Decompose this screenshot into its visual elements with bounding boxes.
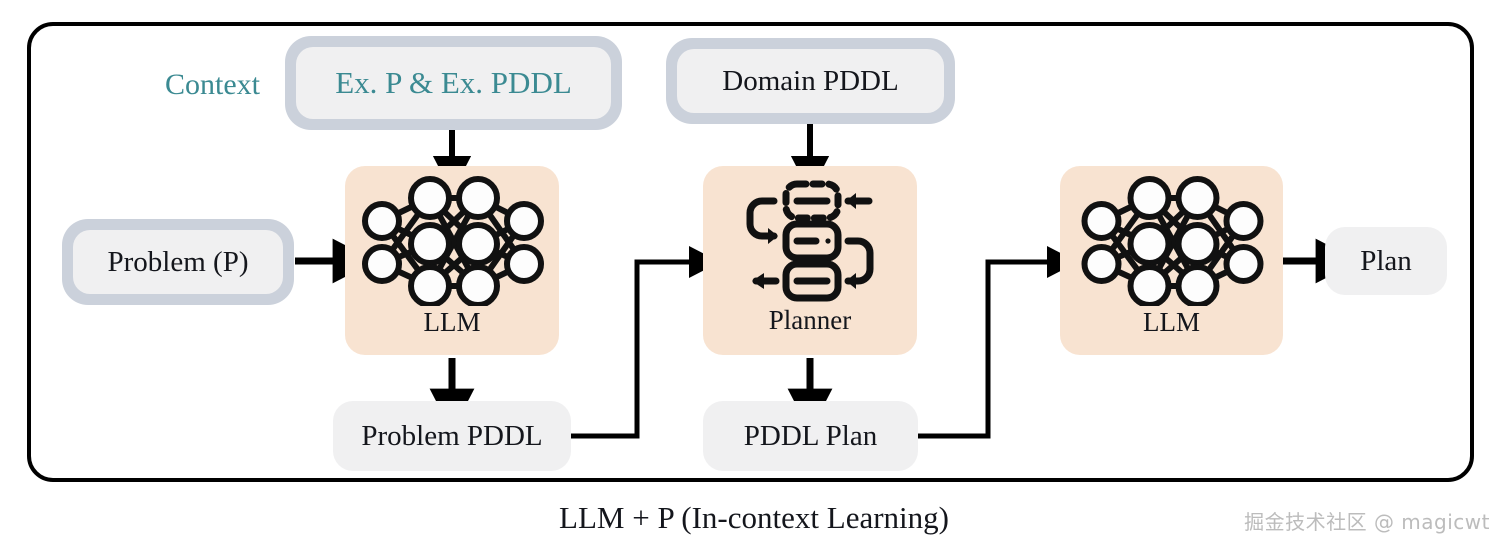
context-label: Context: [165, 68, 260, 102]
node-llm-right-caption: LLM: [1143, 308, 1200, 336]
watermark: 掘金技术社区 @ magicwt: [1244, 506, 1490, 535]
node-llm-right[interactable]: LLM: [1060, 166, 1283, 355]
neural-network-icon: [1060, 176, 1283, 306]
node-problem-pddl-label: Problem PDDL: [361, 421, 542, 451]
node-problem-pddl[interactable]: Problem PDDL: [333, 401, 571, 471]
node-problem[interactable]: Problem (P): [62, 219, 294, 305]
planner-loop-icon: [703, 178, 917, 304]
node-domain-pddl-label: Domain PDDL: [722, 66, 898, 96]
figure-canvas: Context Ex. P & Ex. PDDL Domain PDDL Pro…: [0, 0, 1508, 552]
node-plan-label: Plan: [1360, 246, 1412, 276]
node-example-prompt[interactable]: Ex. P & Ex. PDDL: [285, 36, 622, 130]
node-domain-pddl[interactable]: Domain PDDL: [666, 38, 955, 124]
node-llm-left[interactable]: LLM: [345, 166, 559, 355]
node-pddl-plan-label: PDDL Plan: [744, 421, 877, 451]
node-example-prompt-label: Ex. P & Ex. PDDL: [335, 67, 572, 100]
node-pddl-plan[interactable]: PDDL Plan: [703, 401, 918, 471]
neural-network-icon: [345, 176, 559, 306]
node-plan[interactable]: Plan: [1325, 227, 1447, 295]
node-llm-left-caption: LLM: [424, 308, 481, 336]
node-planner[interactable]: Planner: [703, 166, 917, 355]
node-planner-caption: Planner: [769, 306, 851, 334]
node-problem-label: Problem (P): [108, 247, 249, 277]
